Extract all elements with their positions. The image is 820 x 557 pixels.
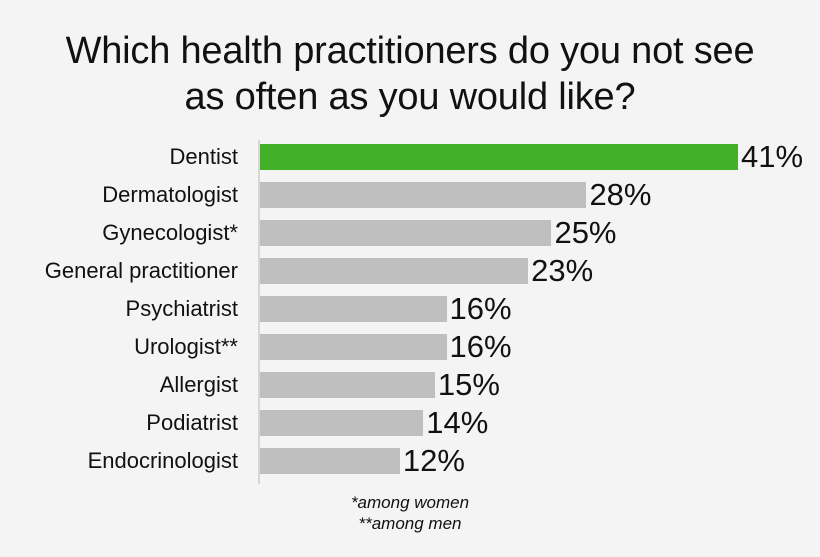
bar [260, 334, 447, 360]
bar-row: General practitioner23% [0, 252, 820, 290]
bar-row: Endocrinologist12% [0, 442, 820, 480]
bar-category-label: Gynecologist* [0, 214, 238, 252]
bar-category-label: Podiatrist [0, 404, 238, 442]
chart-title: Which health practitioners do you not se… [0, 28, 820, 120]
footnote-group: *among women **among men [260, 492, 560, 534]
bar-row: Podiatrist14% [0, 404, 820, 442]
bar [260, 410, 423, 436]
bar-row: Dermatologist28% [0, 176, 820, 214]
footnote-among-men: **among men [260, 513, 560, 534]
bar [260, 448, 400, 474]
bar-value-label: 25% [551, 214, 616, 252]
plot-area: Dentist41%Dermatologist28%Gynecologist*2… [0, 138, 820, 486]
bar-category-label: Allergist [0, 366, 238, 404]
bar-row: Allergist15% [0, 366, 820, 404]
bar-category-label: Urologist** [0, 328, 238, 366]
bar-value-label: 14% [423, 404, 488, 442]
bar-category-label: Dermatologist [0, 176, 238, 214]
bar-chart: Which health practitioners do you not se… [0, 0, 820, 557]
bar-row: Psychiatrist16% [0, 290, 820, 328]
bar-value-label: 41% [738, 138, 803, 176]
bar-value-label: 16% [447, 328, 512, 366]
bar-category-label: Dentist [0, 138, 238, 176]
bar [260, 372, 435, 398]
bar-category-label: General practitioner [0, 252, 238, 290]
bar [260, 258, 528, 284]
bar-value-label: 12% [400, 442, 465, 480]
footnote-among-women: *among women [260, 492, 560, 513]
bar-value-label: 16% [447, 290, 512, 328]
bar-value-label: 15% [435, 366, 500, 404]
bar-row: Dentist41% [0, 138, 820, 176]
bar-value-label: 28% [586, 176, 651, 214]
bar-row: Urologist**16% [0, 328, 820, 366]
bar [260, 144, 738, 170]
bar [260, 182, 586, 208]
bar-value-label: 23% [528, 252, 593, 290]
bar-category-label: Psychiatrist [0, 290, 238, 328]
bar-category-label: Endocrinologist [0, 442, 238, 480]
bar [260, 296, 447, 322]
bar [260, 220, 551, 246]
bar-row: Gynecologist*25% [0, 214, 820, 252]
